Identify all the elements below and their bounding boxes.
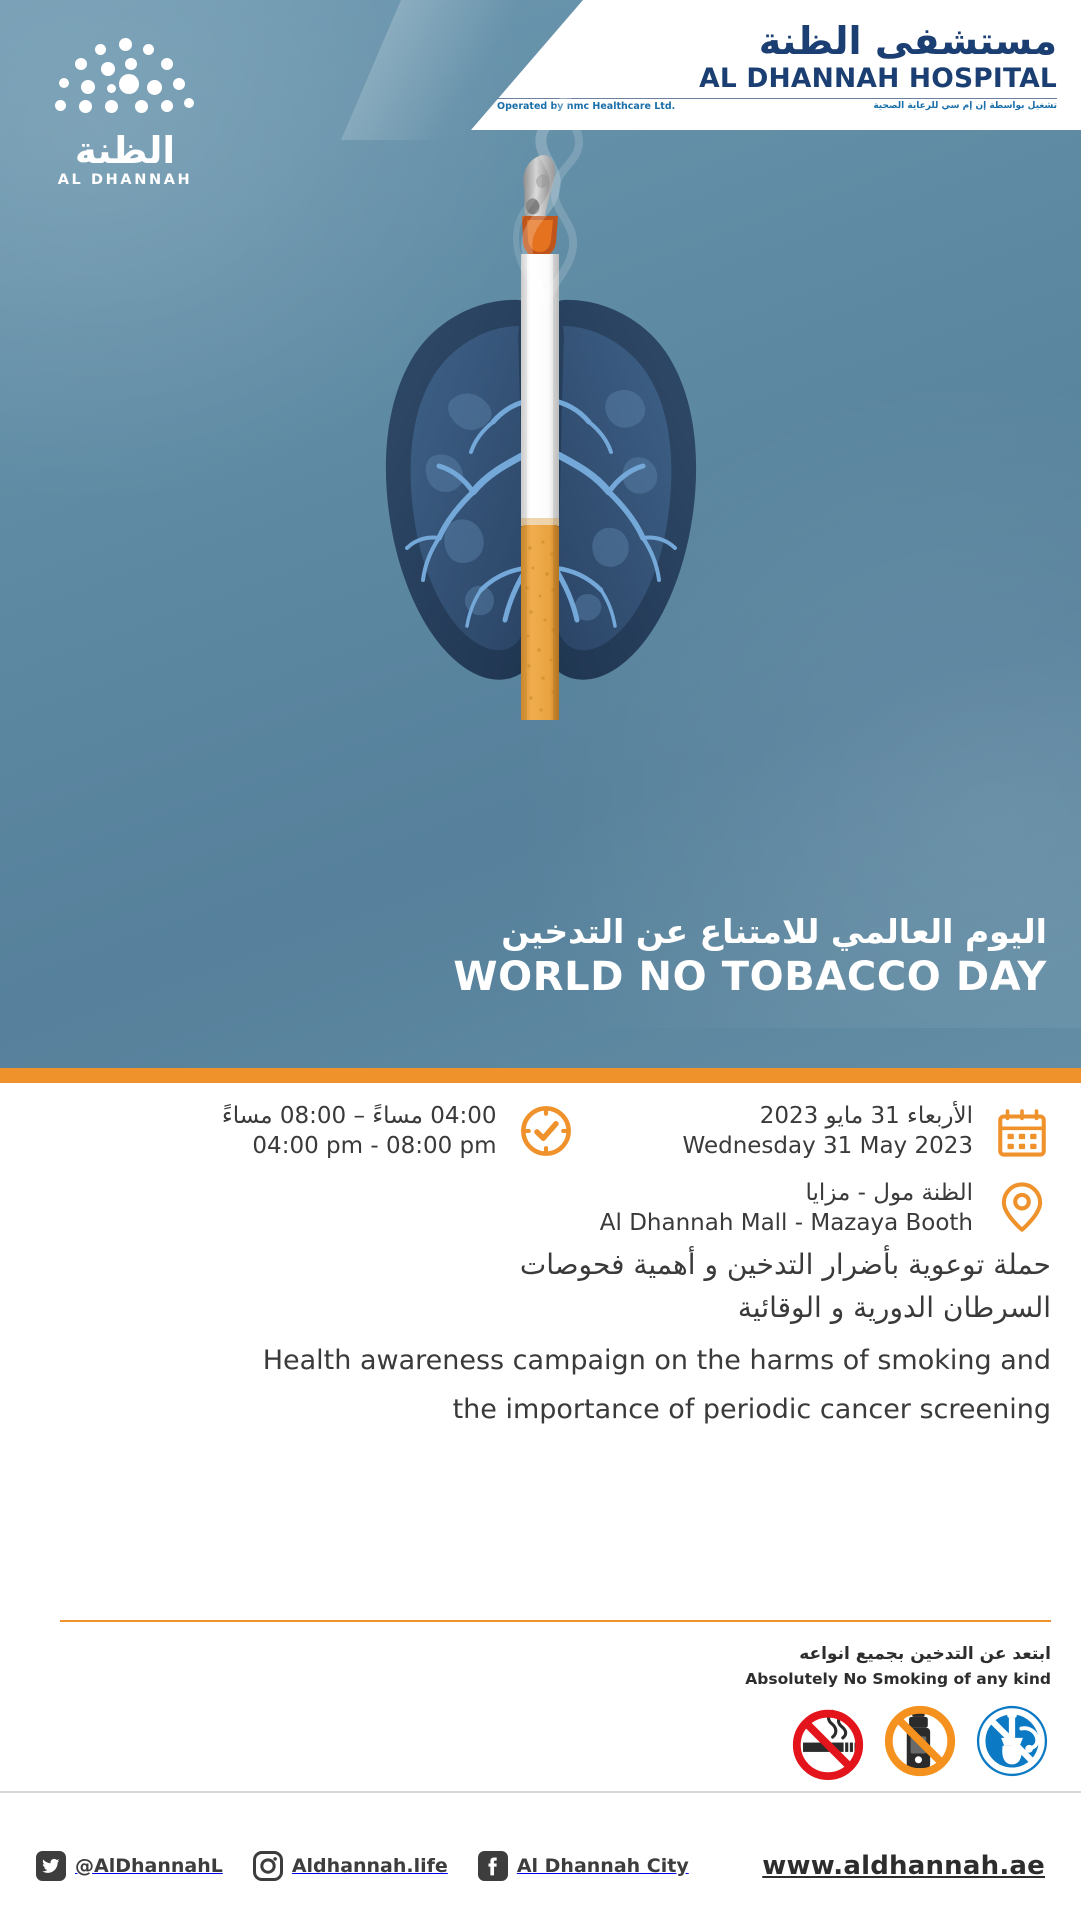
location-block: الظنة مول - مزايا Al Dhannah Mall - Maza… <box>600 1178 1051 1239</box>
location-english: Al Dhannah Mall - Mazaya Booth <box>600 1208 973 1238</box>
campaign-description: حملة توعوية بأضرار التدخين و أهمية فحوصا… <box>60 1243 1051 1428</box>
campaign-arabic-line2: السرطان الدورية و الوقائية <box>60 1286 1051 1329</box>
hero-section: مستشفى الظنة AL DHANNAH HOSPITAL Operate… <box>0 0 1081 1068</box>
facebook-icon <box>478 1851 508 1881</box>
al-dhannah-brand-logo: الظنة AL DHANNAH <box>40 36 210 188</box>
orange-separator-bar <box>0 1068 1081 1083</box>
title-english: WORLD NO TOBACCO DAY <box>453 954 1047 1000</box>
facebook-handle: Al Dhannah City <box>517 1855 689 1877</box>
twitter-icon <box>36 1851 66 1881</box>
instagram-handle: Aldhannah.life <box>292 1855 448 1877</box>
no-smoking-english: Absolutely No Smoking of any kind <box>745 1669 1051 1691</box>
social-links: @AlDhannahL Aldhannah.life Al Dhannah Ci… <box>36 1851 689 1881</box>
dot-arch-logo-icon <box>55 36 195 126</box>
event-details: 04:00 مساءً – 08:00 مساءً 04:00 pm - 08:… <box>0 1101 1081 1238</box>
no-cigarette-sign-icon <box>789 1702 867 1780</box>
twitter-handle: @AlDhannahL <box>75 1855 223 1877</box>
no-vape-sign-icon <box>881 1702 959 1780</box>
time-english: 04:00 pm - 08:00 pm <box>222 1131 497 1161</box>
details-section: 04:00 مساءً – 08:00 مساءً 04:00 pm - 08:… <box>0 1083 1081 1921</box>
lungs-with-cigarette-illustration <box>281 150 801 720</box>
location-pin-icon <box>993 1179 1051 1237</box>
datetime-row: 04:00 مساءً – 08:00 مساءً 04:00 pm - 08:… <box>0 1101 1081 1162</box>
footer: @AlDhannahL Aldhannah.life Al Dhannah Ci… <box>0 1811 1081 1921</box>
orange-thin-divider <box>60 1620 1051 1622</box>
no-smoking-arabic: ابتعد عن التدخين بجميع انواعه <box>745 1643 1051 1667</box>
clock-icon <box>517 1102 575 1160</box>
no-shisha-sign-icon <box>973 1702 1051 1780</box>
title-arabic: اليوم العالمي للامتناع عن التدخين <box>453 911 1047 952</box>
social-link-facebook[interactable]: Al Dhannah City <box>478 1851 689 1881</box>
location-arabic: الظنة مول - مزايا <box>600 1178 973 1208</box>
prohibition-signs <box>745 1702 1051 1780</box>
footer-divider <box>0 1791 1081 1793</box>
social-link-twitter[interactable]: @AlDhannahL <box>36 1851 223 1881</box>
brand-name-arabic: الظنة <box>40 132 210 171</box>
social-link-instagram[interactable]: Aldhannah.life <box>253 1851 448 1881</box>
time-text: 04:00 مساءً – 08:00 مساءً 04:00 pm - 08:… <box>222 1101 497 1162</box>
date-english: Wednesday 31 May 2023 <box>683 1131 973 1161</box>
time-block: 04:00 مساءً – 08:00 مساءً 04:00 pm - 08:… <box>222 1101 575 1162</box>
poster-title: اليوم العالمي للامتناع عن التدخين WORLD … <box>453 911 1047 1000</box>
location-row: الظنة مول - مزايا Al Dhannah Mall - Maza… <box>0 1178 1081 1239</box>
date-text: الأربعاء 31 مايو 2023 Wednesday 31 May 2… <box>683 1101 973 1162</box>
campaign-english-line2: the importance of periodic cancer screen… <box>60 1391 1051 1428</box>
location-text: الظنة مول - مزايا Al Dhannah Mall - Maza… <box>600 1178 973 1239</box>
smoke-wisp-icon <box>421 50 661 310</box>
operated-by-arabic: تشغيل بواسطة إن إم سي للرعاية الصحية <box>873 102 1057 111</box>
website-link[interactable]: www.aldhannah.ae <box>762 1851 1045 1881</box>
date-block: الأربعاء 31 مايو 2023 Wednesday 31 May 2… <box>683 1101 1051 1162</box>
campaign-english-line1: Health awareness campaign on the harms o… <box>60 1342 1051 1379</box>
date-arabic: الأربعاء 31 مايو 2023 <box>683 1101 973 1131</box>
time-arabic: 04:00 مساءً – 08:00 مساءً <box>222 1101 497 1131</box>
campaign-arabic-line1: حملة توعوية بأضرار التدخين و أهمية فحوصا… <box>60 1243 1051 1286</box>
instagram-icon <box>253 1851 283 1881</box>
brand-name-english: AL DHANNAH <box>40 172 210 188</box>
no-smoking-notice: ابتعد عن التدخين بجميع انواعه Absolutely… <box>745 1643 1051 1780</box>
calendar-icon <box>993 1102 1051 1160</box>
